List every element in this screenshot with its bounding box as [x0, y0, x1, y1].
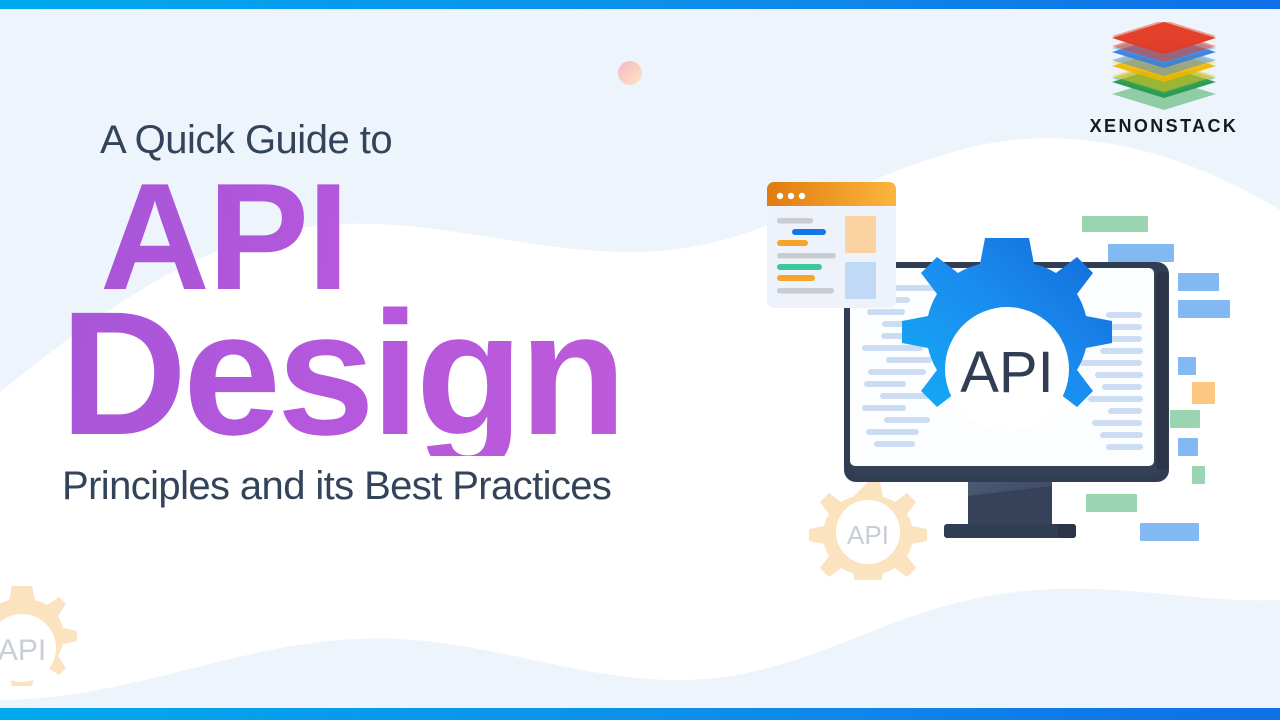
headline-line-2: Design — [60, 294, 760, 456]
bottom-accent-bar — [0, 708, 1280, 720]
browser-thumb-2 — [845, 262, 876, 299]
decorative-dot — [618, 61, 642, 85]
brand-logo[interactable]: XENONSTACK — [1076, 22, 1252, 137]
small-gear-icon: API — [809, 482, 927, 580]
headline-subtitle: Principles and its Best Practices — [62, 466, 760, 506]
stacked-layers-logo-icon — [1104, 22, 1224, 110]
brand-name: XENONSTACK — [1076, 116, 1252, 137]
browser-thumb-1 — [845, 216, 876, 253]
gear-label: API — [960, 340, 1054, 405]
api-illustration: API API — [740, 160, 1280, 580]
browser-dots — [777, 193, 805, 199]
headline-group: A Quick Guide to API Design Principles a… — [60, 120, 760, 506]
corner-gear-label: API — [0, 634, 46, 667]
browser-card — [767, 182, 896, 308]
poster-canvas: XENONSTACK A Quick Guide to API Design P… — [0, 0, 1280, 720]
corner-gear-icon: API — [0, 578, 92, 718]
top-accent-bar — [0, 0, 1280, 9]
small-gear-label: API — [847, 520, 889, 550]
illustration-svg: API API — [740, 160, 1280, 580]
api-gear-icon: API — [902, 238, 1112, 431]
